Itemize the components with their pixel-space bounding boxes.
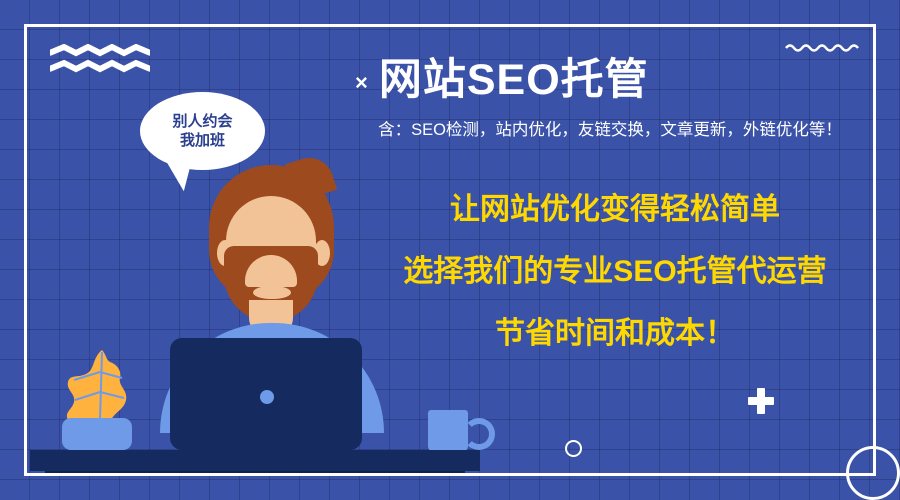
page-title: ×网站SEO托管 [355, 45, 855, 107]
page-title-text: 网站SEO托管 [379, 56, 649, 104]
mug-handle [463, 418, 495, 450]
headline-2: 选择我们的专业SEO托管代运营 [340, 257, 890, 287]
headline-3: 节省时间和成本！ [340, 319, 890, 349]
plus-icon [748, 388, 774, 414]
speech-bubble-text: 别人约会 我加班 [172, 112, 232, 150]
headline-1: 让网站优化变得轻松简单 [340, 195, 890, 225]
headline-list: 让网站优化变得轻松简单 选择我们的专业SEO托管代运营 节省时间和成本！ [340, 195, 890, 349]
desk-edge [45, 471, 465, 476]
circle-outline-icon [565, 440, 582, 457]
seo-hosting-banner: 别人约会 我加班 ×网站SEO托管 含：SEO检测，站内优化，友链交换，文章更新… [0, 0, 900, 500]
laptop-logo-dot [260, 390, 274, 404]
subtitle: 含：SEO检测，站内优化，友链交换，文章更新，外链优化等！ [340, 116, 880, 140]
close-icon: × [355, 70, 369, 95]
plant-pot [62, 418, 132, 450]
mouth [253, 286, 291, 299]
speech-bubble: 别人约会 我加班 [140, 92, 265, 170]
corner-circle-icon [846, 446, 900, 500]
coffee-mug-icon [428, 410, 468, 452]
speech-bubble-line-2: 我加班 [172, 131, 232, 150]
speech-bubble-line-1: 别人约会 [172, 112, 232, 131]
desk-surface [30, 450, 480, 471]
